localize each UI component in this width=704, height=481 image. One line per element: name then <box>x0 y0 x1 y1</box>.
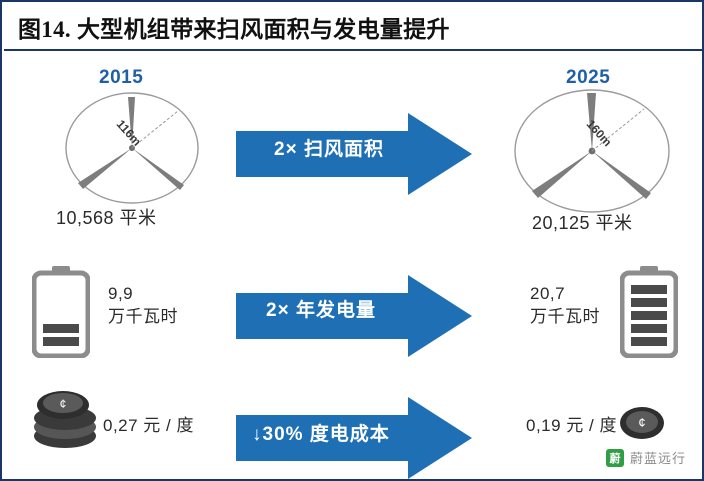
brand-name: 蔚蓝远行 <box>630 448 686 467</box>
coin-icon: ¢ <box>618 403 666 443</box>
page-title: 图14. 大型机组带来扫风面积与发电量提升 <box>4 10 450 44</box>
coin-stack-icon: ¢ <box>32 389 98 451</box>
rotor-diagram-left <box>62 89 202 207</box>
annual-generation-value-left: 9,9 <box>108 283 178 306</box>
annual-generation-unit-left: 万千瓦时 <box>108 306 178 329</box>
figure-title-bar: 图14. 大型机组带来扫风面积与发电量提升 <box>4 4 702 51</box>
rotor-diagram-right <box>512 87 672 215</box>
battery-full-icon <box>620 266 678 358</box>
annual-generation-right: 20,7 万千瓦时 <box>530 283 600 329</box>
brand-watermark: 蔚 蔚蓝远行 <box>606 448 686 467</box>
arrow-label-swept-area: 2× 扫风面积 <box>274 134 384 161</box>
battery-low-icon <box>32 266 90 358</box>
power-cost-value-right: 0,19 元 / 度 <box>526 411 617 436</box>
year-label-left: 2015 <box>99 67 143 89</box>
brand-logo-icon: 蔚 <box>606 449 624 467</box>
annual-generation-value-right: 20,7 <box>530 283 600 306</box>
swept-area-value-right: 20,125 平米 <box>532 209 633 235</box>
year-label-right: 2025 <box>566 67 610 89</box>
arrow-label-annual-generation: 2× 年发电量 <box>266 295 376 322</box>
figure-canvas: 2015 2025 116m <box>4 51 702 479</box>
swept-area-value-left: 10,568 平米 <box>56 204 157 230</box>
annual-generation-unit-right: 万千瓦时 <box>530 306 600 329</box>
power-cost-value-left: 0,27 元 / 度 <box>103 411 194 436</box>
svg-text:¢: ¢ <box>638 415 645 430</box>
figure-container: 图14. 大型机组带来扫风面积与发电量提升 2015 2025 116m <box>0 0 704 481</box>
svg-text:¢: ¢ <box>60 397 67 411</box>
arrow-label-power-cost: ↓30% 度电成本 <box>252 419 390 446</box>
annual-generation-left: 9,9 万千瓦时 <box>108 283 178 329</box>
